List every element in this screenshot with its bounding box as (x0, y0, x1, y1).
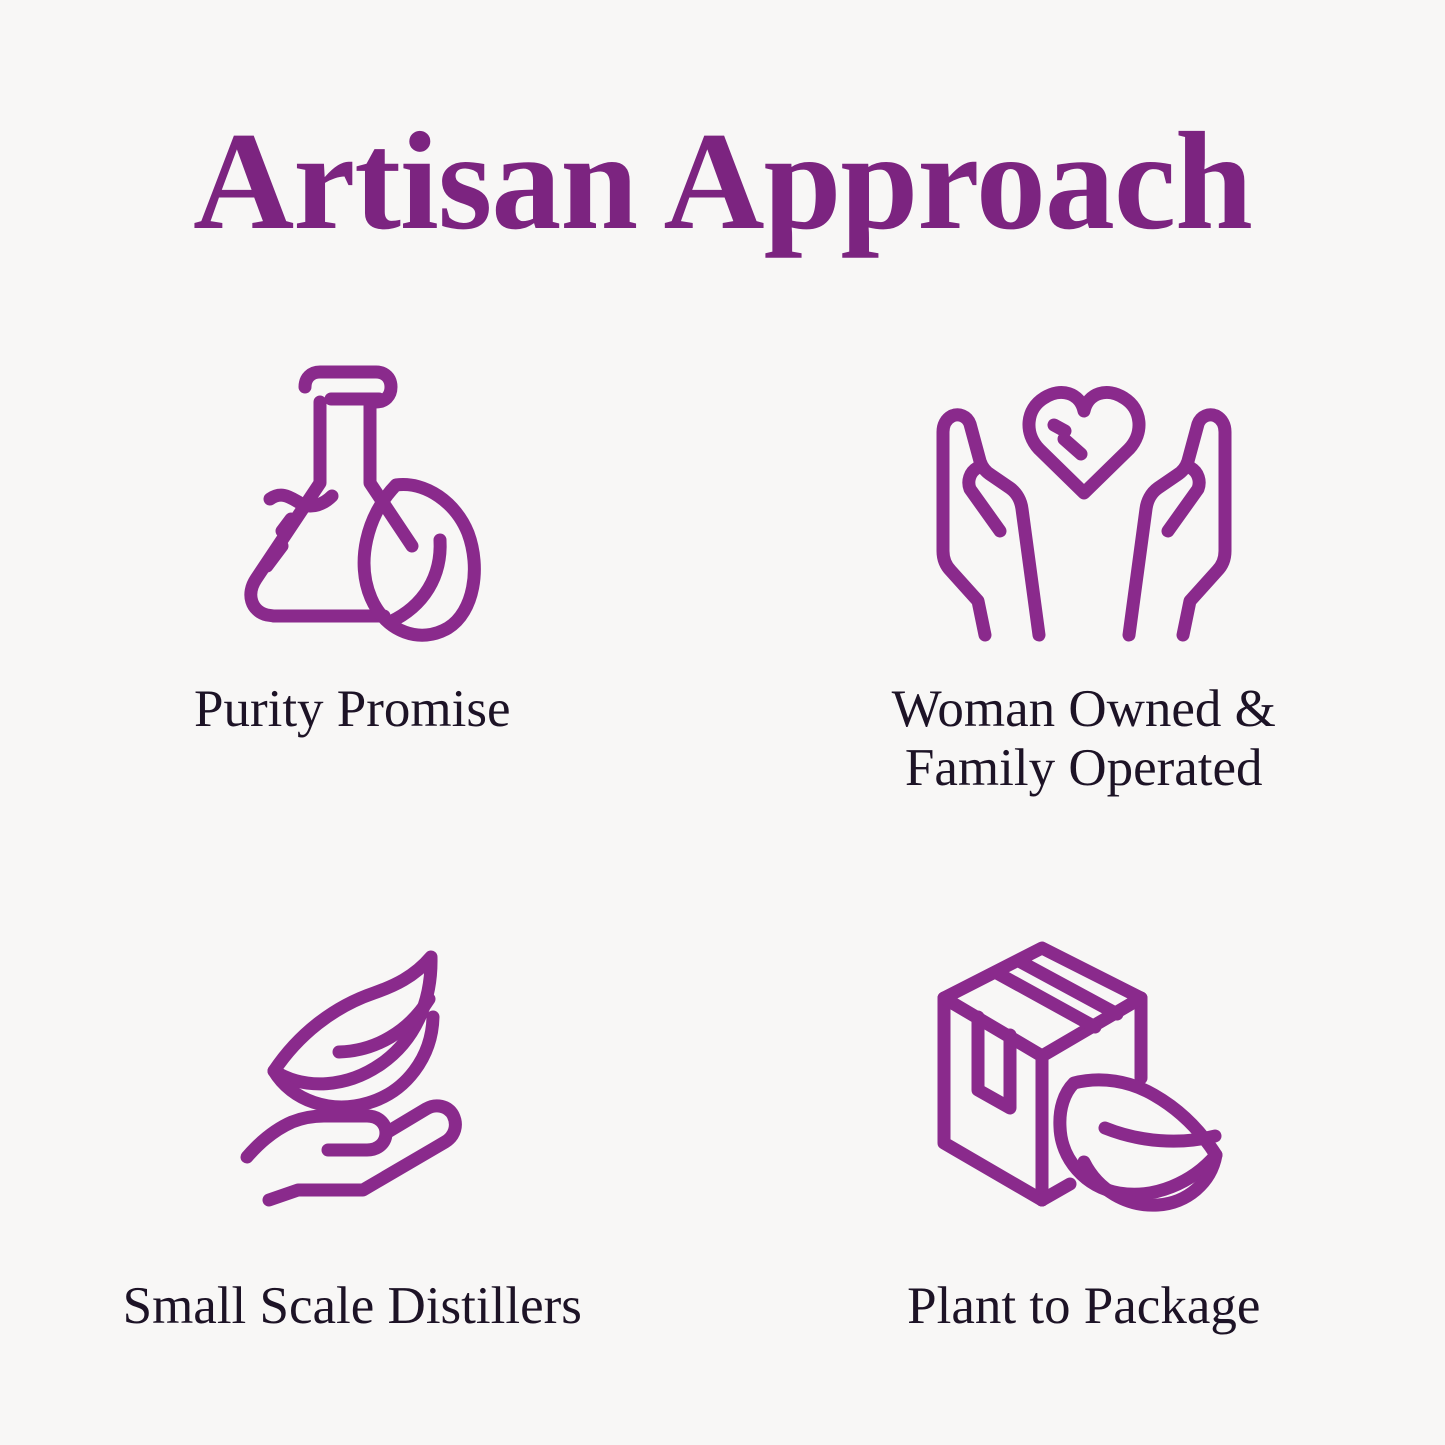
feature-item-plant-to-package: Plant to Package (723, 845, 1445, 1360)
feature-label-text: Small Scale Distillers (123, 1277, 582, 1335)
package-box-leaf-icon (934, 925, 1234, 1225)
feature-grid: Purity Promise (0, 330, 1445, 1360)
feature-item-purity-promise: Purity Promise (0, 330, 723, 845)
feature-item-woman-owned: Woman Owned & Family Operated (723, 330, 1445, 845)
page-title-container: Artisan Approach (0, 108, 1445, 255)
feature-label-plant-to-package: Plant to Package (907, 1277, 1260, 1336)
feature-label-text: Purity Promise (194, 680, 511, 738)
feature-item-small-scale-distillers: Small Scale Distillers (0, 845, 723, 1360)
flask-leaf-icon (211, 358, 511, 658)
page-title: Artisan Approach (193, 108, 1252, 255)
hand-holding-leaf-icon (211, 925, 511, 1225)
feature-label-text-line2: Family Operated (905, 739, 1263, 797)
feature-label-text-line1: Woman Owned & (892, 680, 1276, 738)
feature-label-purity-promise: Purity Promise (194, 680, 529, 739)
artisan-approach-graphic: Artisan Approach (0, 0, 1445, 1445)
hands-holding-heart-icon (934, 358, 1234, 658)
feature-label-small-scale-distillers: Small Scale Distillers (123, 1277, 600, 1336)
feature-label-text: Plant to Package (907, 1277, 1260, 1335)
feature-label-woman-owned: Woman Owned & Family Operated (892, 680, 1276, 799)
